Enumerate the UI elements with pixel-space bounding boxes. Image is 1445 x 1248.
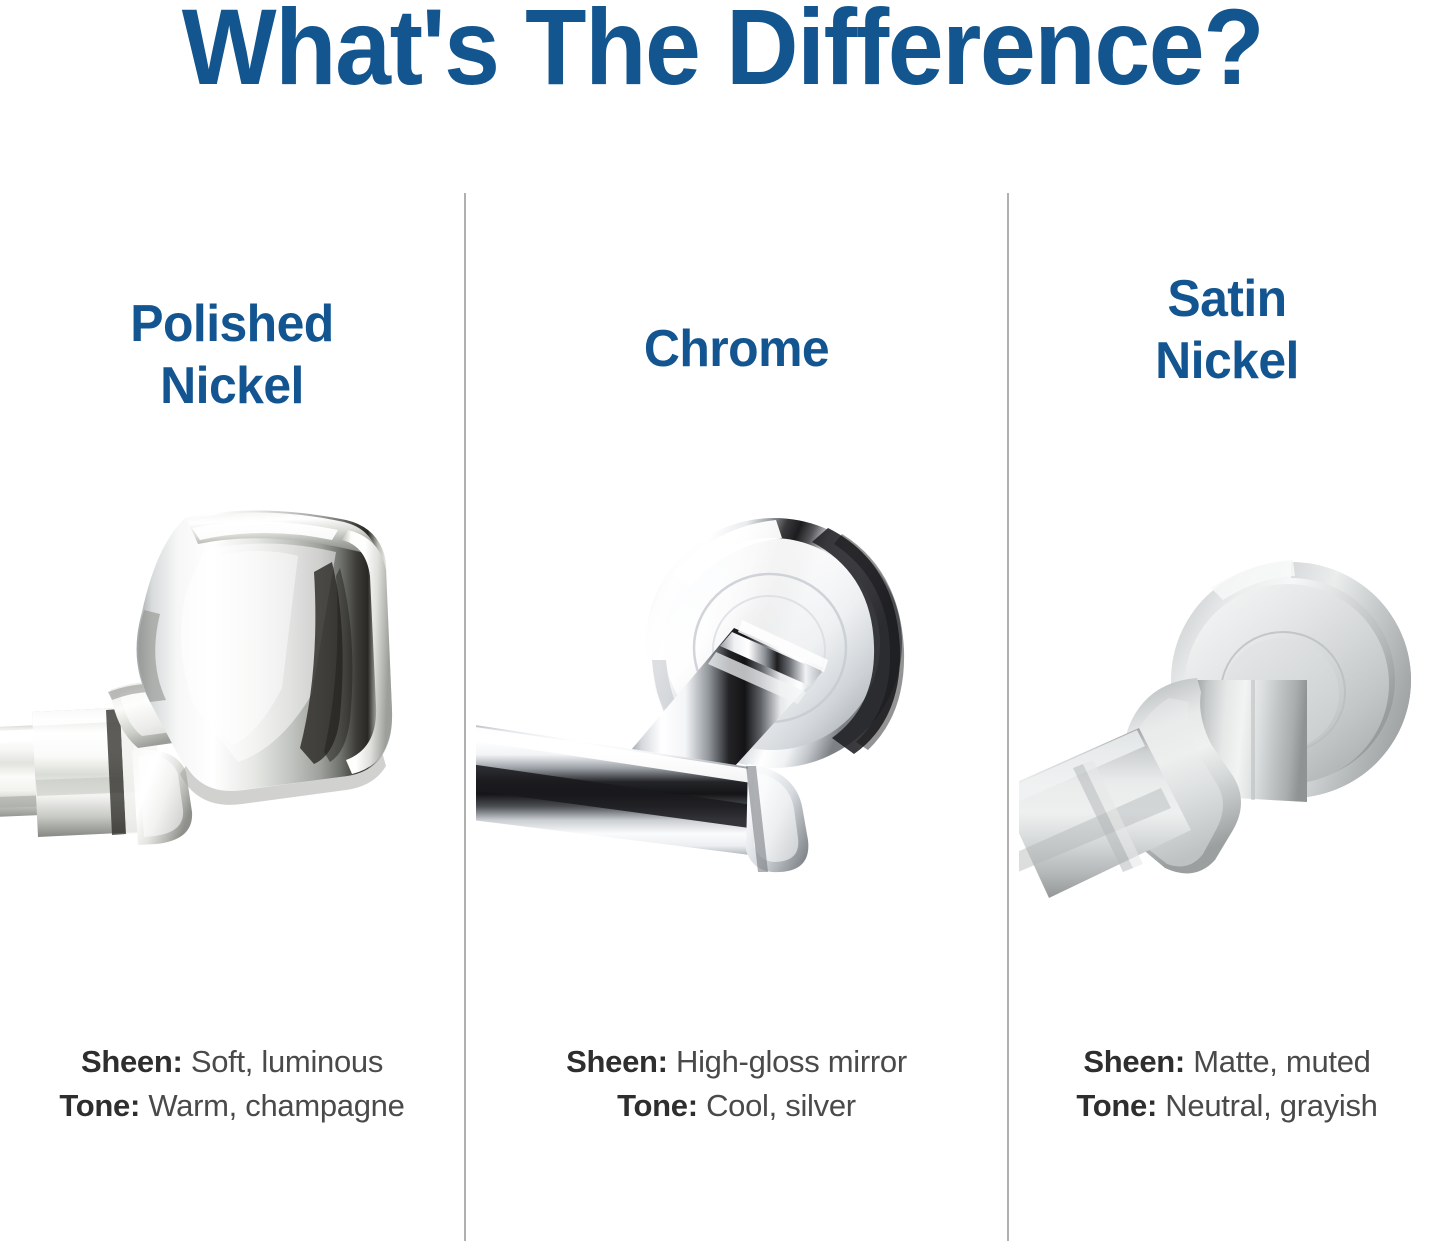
spec-value-tone: Warm, champagne — [148, 1088, 404, 1123]
spec-value-sheen: High-gloss mirror — [676, 1044, 907, 1079]
spec-line-sheen: Sheen: High-gloss mirror — [466, 1040, 1007, 1084]
spec-label-sheen: Sheen: — [1083, 1044, 1185, 1079]
heading-line-1: Polished — [130, 295, 333, 353]
spec-label-sheen: Sheen: — [566, 1044, 668, 1079]
spec-label-sheen: Sheen: — [81, 1044, 183, 1079]
column-satin-nickel: Satin Nickel — [1009, 0, 1445, 1248]
heading-line-1: Chrome — [644, 320, 829, 378]
spec-value-tone: Cool, silver — [706, 1088, 856, 1123]
spec-label-tone: Tone: — [617, 1088, 698, 1123]
heading-line-2: Nickel — [160, 357, 304, 415]
spec-label-tone: Tone: — [1076, 1088, 1157, 1123]
column-heading-chrome: Chrome — [477, 318, 996, 380]
column-polished-nickel: Polished Nickel — [0, 0, 464, 1248]
heading-line-2: Nickel — [1155, 332, 1299, 390]
caption-satin-nickel: Sheen: Matte, muted Tone: Neutral, grayi… — [1009, 1040, 1445, 1128]
product-image-satin-nickel — [1019, 530, 1445, 920]
spec-line-tone: Tone: Cool, silver — [466, 1084, 1007, 1128]
spec-line-sheen: Sheen: Soft, luminous — [0, 1040, 464, 1084]
spec-line-tone: Tone: Warm, champagne — [0, 1084, 464, 1128]
column-heading-satin-nickel: Satin Nickel — [1018, 268, 1437, 392]
product-image-polished-nickel — [0, 480, 420, 930]
heading-line-1: Satin — [1167, 270, 1286, 328]
infographic-page: What's The Difference? Polished Nickel — [0, 0, 1445, 1248]
column-heading-polished-nickel: Polished Nickel — [9, 293, 454, 417]
spec-line-sheen: Sheen: Matte, muted — [1009, 1040, 1445, 1084]
spec-value-sheen: Matte, muted — [1193, 1044, 1370, 1079]
spec-value-tone: Neutral, grayish — [1165, 1088, 1377, 1123]
product-image-chrome — [476, 500, 956, 920]
caption-chrome: Sheen: High-gloss mirror Tone: Cool, sil… — [466, 1040, 1007, 1128]
spec-line-tone: Tone: Neutral, grayish — [1009, 1084, 1445, 1128]
spec-label-tone: Tone: — [59, 1088, 140, 1123]
spec-value-sheen: Soft, luminous — [191, 1044, 383, 1079]
caption-polished-nickel: Sheen: Soft, luminous Tone: Warm, champa… — [0, 1040, 464, 1128]
column-chrome: Chrome — [466, 0, 1007, 1248]
